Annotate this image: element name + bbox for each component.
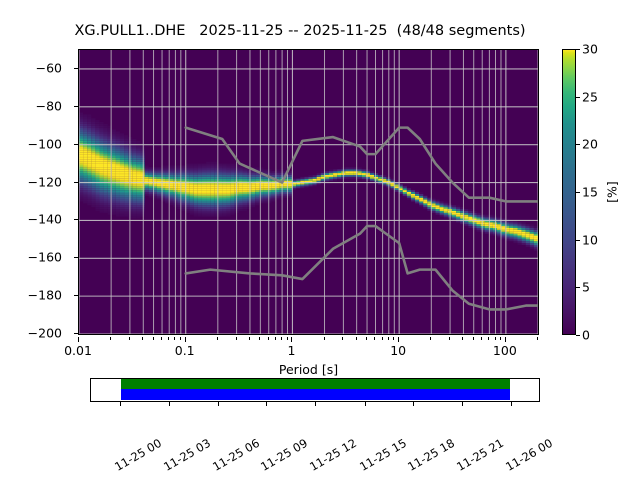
colorbar-tick-label: 15 [582,185,598,200]
x-tick-mark [462,337,463,340]
x-tick-mark [495,337,496,340]
timeline-tick-mark [413,402,414,406]
colorbar-tick-mark [576,97,580,98]
x-axis-ticks: 0.010.1110100 [78,337,539,359]
x-tick-mark [174,337,175,340]
x-tick-mark [185,337,186,342]
x-tick-mark [488,337,489,340]
y-axis-ticks: −200−180−160−140−120−100−80−60 [0,49,72,335]
x-tick-label: 0.1 [175,343,195,358]
y-tick-label: −200 [28,326,62,341]
x-tick-mark [153,337,154,340]
timeline-tick-label: 11-25 00 [112,436,164,474]
x-tick-mark [366,337,367,340]
x-tick-mark [281,337,282,340]
x-tick-mark [342,337,343,340]
timeline-tick-mark [511,402,512,406]
colorbar [562,49,576,335]
x-tick-mark [324,337,325,340]
timeline-axis-ticks: 11-25 0011-25 0311-25 0611-25 0911-25 12… [90,402,540,472]
timeline-tick-mark [266,402,267,406]
colorbar-tick-label: 5 [582,280,590,295]
x-tick-mark [168,337,169,340]
x-tick-mark [382,337,383,340]
timeline-tick-label: 11-25 21 [454,436,506,474]
y-tick-label: −140 [28,212,62,227]
x-tick-label: 10 [390,343,406,358]
data-coverage-timeline[interactable] [90,378,540,402]
x-tick-mark [287,337,288,340]
x-tick-label: 1 [287,343,295,358]
colorbar-tick-mark [576,192,580,193]
x-tick-mark [78,337,79,342]
page-title: XG.PULL1..DHE 2025-11-25 -- 2025-11-25 (… [0,23,600,39]
timeline-tick-mark [218,402,219,406]
colorbar-tick-mark [576,287,580,288]
x-tick-mark [505,337,506,342]
colorbar-tick-mark [576,49,580,50]
colorbar-tick-label: 10 [582,232,598,247]
timeline-tick-mark [462,402,463,406]
colorbar-tick-mark [576,240,580,241]
timeline-tick-label: 11-25 18 [405,436,457,474]
colorbar-tick-mark [576,144,580,145]
y-tick-label: −80 [36,98,62,113]
timeline-tick-label: 11-25 03 [161,436,213,474]
colorbar-tick-mark [576,335,580,336]
ppsd-density-plot [79,50,538,334]
colorbar-tick-label: 0 [582,328,590,343]
x-tick-mark [449,337,450,340]
x-tick-mark [430,337,431,340]
x-tick-mark [180,337,181,340]
x-tick-mark [275,337,276,340]
x-tick-mark [291,337,292,342]
x-tick-mark [356,337,357,340]
timeline-tick-label: 11-25 09 [259,436,311,474]
colorbar-tick-label: 25 [582,89,598,104]
x-tick-mark [249,337,250,340]
colorbar-label: [%] [605,181,620,203]
timeline-tick-label: 11-26 00 [503,436,555,474]
timeline-tick-mark [120,402,121,406]
timeline-tick-mark [365,402,366,406]
timeline-tick-mark [169,402,170,406]
x-tick-mark [110,337,111,340]
timeline-tick-label: 11-25 06 [210,436,262,474]
y-tick-label: −100 [28,136,62,151]
y-tick-label: −180 [28,288,62,303]
y-tick-label: −60 [36,60,62,75]
ppsd-plot-area[interactable] [78,49,539,335]
x-tick-mark [537,337,538,340]
colorbar-tick-label: 30 [582,42,598,57]
y-tick-label: −120 [28,174,62,189]
x-tick-label: 100 [493,343,517,358]
timeline-tick-label: 11-25 15 [357,436,409,474]
x-tick-mark [268,337,269,340]
x-tick-mark [217,337,218,340]
x-tick-mark [393,337,394,340]
timeline-bar-data-availability [121,389,511,400]
x-axis-label: Period [s] [78,362,539,377]
x-tick-mark [473,337,474,340]
timeline-bar-psd-coverage [121,379,511,389]
x-tick-mark [481,337,482,340]
x-tick-mark [374,337,375,340]
x-tick-mark [142,337,143,340]
timeline-tick-mark [315,402,316,406]
x-tick-label: 0.01 [64,343,92,358]
timeline-tick-label: 11-25 12 [308,436,360,474]
y-tick-label: −160 [28,250,62,265]
x-tick-mark [388,337,389,340]
ppsd-figure: XG.PULL1..DHE 2025-11-25 -- 2025-11-25 (… [0,0,640,480]
x-tick-mark [500,337,501,340]
colorbar-tick-label: 20 [582,137,598,152]
x-tick-mark [129,337,130,340]
x-tick-mark [236,337,237,340]
x-tick-mark [161,337,162,340]
x-tick-mark [259,337,260,340]
x-tick-mark [398,337,399,342]
